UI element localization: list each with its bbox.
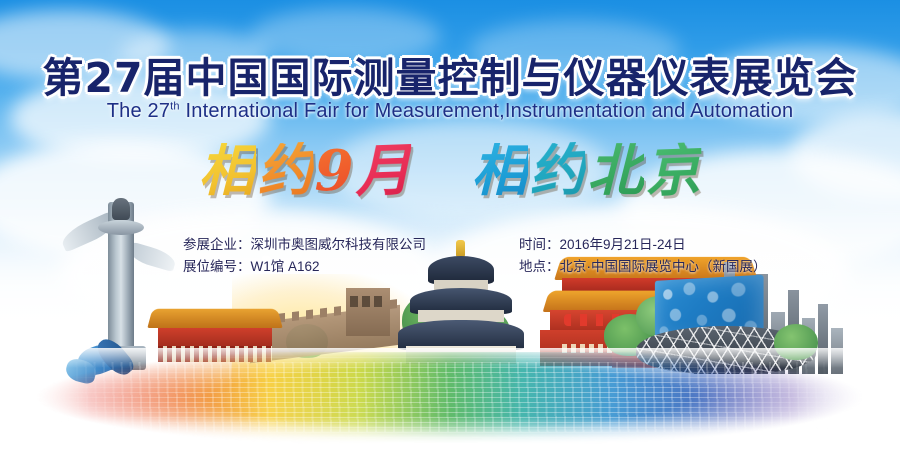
- page-title: 第27届中国国际测量控制与仪器仪表展览会: [0, 44, 900, 104]
- subtitle-rest: International Fair for Measurement,Instr…: [180, 100, 794, 122]
- exhibition-banner: 第27届中国国际测量控制与仪器仪表展览会 The 27th Internatio…: [0, 0, 900, 450]
- callig-char: 北: [586, 143, 644, 199]
- calligraphy-phrase-september: 相 约 9 月: [198, 143, 413, 199]
- subtitle-prefix: The 27: [107, 100, 170, 122]
- exhibitor-info-column: 参展企业：深圳市奥图威尔科技有限公司 展位编号：W1馆 A162: [183, 234, 426, 279]
- event-info: 参展企业：深圳市奥图威尔科技有限公司 展位编号：W1馆 A162 时间：2016…: [0, 234, 900, 279]
- exhibitor-name-line: 参展企业：深圳市奥图威尔科技有限公司: [183, 234, 426, 256]
- dove-icon: [150, 291, 162, 298]
- callig-char: 9: [314, 143, 355, 199]
- event-venue-line: 地点：北京·中国国际展览中心（新国展）: [519, 256, 767, 278]
- calligraphy-phrase-beijing: 相 约 北 京: [470, 143, 702, 199]
- event-details-column: 时间：2016年9月21日-24日 地点：北京·中国国际展览中心（新国展）: [519, 234, 767, 279]
- subtitle-ordinal-suffix: th: [170, 100, 180, 112]
- callig-char: 约: [254, 142, 315, 201]
- subtitle-english: The 27th International Fair for Measurem…: [0, 100, 900, 123]
- callig-char: 月: [354, 142, 414, 200]
- callig-char: 相: [470, 143, 528, 199]
- event-date-line: 时间：2016年9月21日-24日: [519, 234, 767, 256]
- callig-char: 京: [644, 142, 704, 200]
- calligraphy-slogans: 相 约 9 月 相 约 北 京: [0, 143, 900, 199]
- booth-number-line: 展位编号：W1馆 A162: [183, 256, 426, 278]
- callig-char: 约: [527, 142, 588, 201]
- water-bottom-fade: [0, 416, 900, 450]
- callig-char: 相: [198, 143, 256, 199]
